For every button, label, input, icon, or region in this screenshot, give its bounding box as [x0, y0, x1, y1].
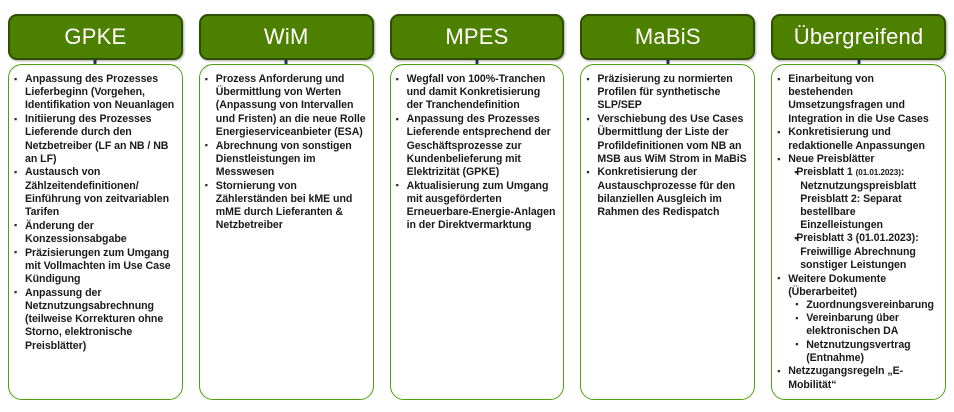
sub-item-date: (01.01.2023) [856, 232, 915, 244]
sub-list-item: Zuordnungsvereinbarung [788, 299, 939, 312]
sub-item-lead: Preisblatt 1 [796, 166, 853, 178]
list-item: Verschiebung des Use Cases Übermittlung … [585, 113, 748, 166]
column-header-label: WiM [264, 26, 309, 48]
column-header-gpke[interactable]: GPKE [8, 14, 183, 60]
column-header-label: Übergreifend [794, 26, 924, 48]
bullet-list-mabis: Präzisierung zu normierten Profilen für … [585, 73, 748, 219]
column-header-label: MaBiS [635, 26, 701, 48]
bullet-list-gpke: Anpassung des Prozesses Lieferbeginn (Vo… [13, 73, 176, 353]
sub-item-lead: Preisblatt 3 [796, 232, 853, 244]
list-item: Abrechnung von sonstigen Dienstleistunge… [204, 140, 367, 180]
bullet-list-mpes: Wegfall von 100%-Tranchen und damit Konk… [395, 73, 558, 232]
column-body-gpke: Anpassung des Prozesses Lieferbeginn (Vo… [8, 64, 183, 400]
sub-list-item: Preisblatt 1 (01.01.2023): Netznutzungsp… [788, 166, 939, 232]
list-item-label: Weitere Dokumente (Überarbeitet) [788, 273, 886, 298]
sub-item-date: (01.01.2023) [856, 168, 901, 177]
column-header-label: MPES [445, 26, 508, 48]
list-item: Präzisierung zu normierten Profilen für … [585, 73, 748, 113]
list-item: Stornierung von Zählerständen bei kME un… [204, 180, 367, 233]
list-item: Konkretisierung der Austauschprozesse fü… [585, 166, 748, 219]
column-body-mabis: Präzisierung zu normierten Profilen für … [580, 64, 755, 400]
list-item: Austausch von Zählzeitendefinitionen/ Ei… [13, 166, 176, 219]
column-body-wim: Prozess Anforderung und Übermittlung von… [199, 64, 374, 400]
column-wim: WiM Prozess Anforderung und Übermittlung… [191, 0, 382, 412]
list-item-label: Neue Preisblätter [788, 153, 874, 165]
sub-list-item: Netznutzungsvertrag (Entnahme) [788, 339, 939, 365]
column-header-label: GPKE [64, 26, 126, 48]
list-item: Neue Preisblätter Preisblatt 1 (01.01.20… [776, 153, 939, 272]
column-uebergreifend: Übergreifend Einarbeitung von bestehende… [763, 0, 954, 412]
list-item: Prozess Anforderung und Übermittlung von… [204, 73, 367, 139]
list-item: Aktualisierung zum Umgang mit ausgeförde… [395, 180, 558, 233]
column-gpke: GPKE Anpassung des Prozesses Lieferbegin… [0, 0, 191, 412]
column-header-mabis[interactable]: MaBiS [580, 14, 755, 60]
list-item: Anpassung der Netznutzungsabrechnung (te… [13, 287, 176, 353]
list-item: Änderung der Konzessionsabgabe [13, 220, 176, 246]
list-item: Einarbeitung von bestehenden Umsetzungsf… [776, 73, 939, 126]
column-body-uebergreifend: Einarbeitung von bestehenden Umsetzungsf… [771, 64, 946, 400]
sub-bullet-list-preisblaetter: Preisblatt 1 (01.01.2023): Netznutzungsp… [788, 166, 939, 272]
sub-bullet-list-dokumente: Zuordnungsvereinbarung Vereinbarung über… [788, 299, 939, 365]
list-item: Anpassung des Prozesses Lieferbeginn (Vo… [13, 73, 176, 113]
column-body-mpes: Wegfall von 100%-Tranchen und damit Konk… [390, 64, 565, 400]
sub-list-item: Vereinbarung über elektronischen DA [788, 312, 939, 338]
column-header-mpes[interactable]: MPES [390, 14, 565, 60]
bullet-list-wim: Prozess Anforderung und Übermittlung von… [204, 73, 367, 232]
sub-list-item: Preisblatt 3 (01.01.2023): Freiwillige A… [788, 232, 939, 272]
list-item: Netzzugangsregeln „E-Mobilität“ [776, 365, 939, 391]
bullet-list-uebergreifend: Einarbeitung von bestehenden Umsetzungsf… [776, 73, 939, 392]
column-mabis: MaBiS Präzisierung zu normierten Profile… [572, 0, 763, 412]
column-header-uebergreifend[interactable]: Übergreifend [771, 14, 946, 60]
list-item: Anpassung des Prozesses Lieferende entsp… [395, 113, 558, 179]
column-header-wim[interactable]: WiM [199, 14, 374, 60]
column-mpes: MPES Wegfall von 100%-Tranchen und damit… [382, 0, 573, 412]
list-item: Initiierung des Prozesses Lieferende dur… [13, 113, 176, 166]
process-areas-diagram: GPKE Anpassung des Prozesses Lieferbegin… [0, 0, 954, 412]
list-item: Präzisierungen zum Umgang mit Vollmachte… [13, 247, 176, 287]
list-item: Konkretisierung und redaktionelle Anpass… [776, 126, 939, 152]
list-item: Weitere Dokumente (Überarbeitet) Zuordnu… [776, 273, 939, 365]
list-item: Wegfall von 100%-Tranchen und damit Konk… [395, 73, 558, 113]
